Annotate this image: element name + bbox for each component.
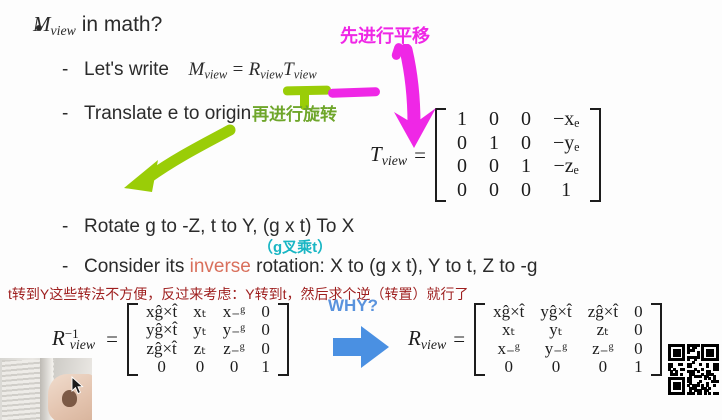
matrix-cell: xĝ×t̂ — [138, 303, 185, 321]
matrix-cell: 1 — [253, 358, 278, 376]
matrix-cell: −yₑ — [542, 132, 590, 156]
title-symbol: M — [33, 12, 51, 36]
matrix-cell: 0 — [478, 155, 510, 179]
matrix-cell: x₋ᵍ — [485, 340, 532, 358]
bullet-dash-4: - — [62, 256, 68, 278]
matrix-row: 0 0 0 1 — [446, 179, 590, 203]
qr-code — [668, 344, 718, 394]
matrix-cell: −zₑ — [542, 155, 590, 179]
matrix-row: 0 0 1 −zₑ — [446, 155, 590, 179]
formula-t-sub: view — [294, 68, 317, 82]
matrix-cell: yₜ — [532, 321, 579, 339]
slide-canvas: Mview in math? - Let's write Mview = Rvi… — [0, 0, 722, 420]
matrix-rview-inverse-letter: R — [52, 326, 65, 350]
matrix-rview-inverse-label: R−1view — [52, 326, 95, 353]
matrix-cell: yĝ×t̂ — [532, 303, 579, 321]
title-symbol-subscript: view — [51, 23, 76, 38]
magenta-arrow-icon — [386, 44, 456, 156]
matrix-cell: 0 — [446, 155, 478, 179]
matrix-cell: yₜ — [185, 321, 215, 339]
matrix-rview: Rview = xĝ×t̂ yĝ×t̂ zĝ×t̂ 0 xₜ yₜ zₜ 0 x… — [408, 303, 662, 376]
matrix-rview-inverse-subscript: view — [70, 337, 95, 352]
annotation-green-text: 再进行旋转 — [252, 100, 337, 125]
matrix-cell: zĝ×t̂ — [138, 340, 185, 358]
bullet-letswrite-label: Let's write — [84, 59, 169, 80]
matrix-cell: 0 — [446, 179, 478, 203]
matrix-cell: 0 — [510, 179, 542, 203]
formula-r: R — [249, 59, 261, 80]
matrix-rview-inverse-left-bracket — [127, 303, 138, 376]
bullet-dash-1: - — [62, 59, 68, 81]
matrix-cell: 0 — [510, 132, 542, 156]
matrix-rview-inverse-grid: xĝ×t̂ xₜ x₋ᵍ 0 yĝ×t̂ yₜ y₋ᵍ 0 zĝ×t̂ zₜ z… — [138, 303, 278, 376]
matrix-cell: −xₑ — [542, 108, 590, 132]
blue-right-arrow-icon — [331, 323, 393, 371]
matrix-row: 0 0 0 1 — [485, 358, 650, 376]
matrix-cell: 0 — [485, 358, 532, 376]
bullet-consider-prefix: Consider its — [84, 256, 190, 277]
bullet-letswrite: Let's write Mview = RviewTview — [84, 59, 317, 83]
matrix-cell: 0 — [532, 358, 579, 376]
annotation-magenta-text: 先进行平移 — [340, 22, 430, 48]
mouse-cursor-icon — [71, 376, 84, 395]
matrix-row: 0 0 0 1 — [138, 358, 278, 376]
matrix-cell: xₜ — [485, 321, 532, 339]
matrix-rview-inverse-equals: = — [106, 327, 118, 352]
matrix-rview-letter: R — [408, 326, 421, 350]
bullet-dash-2: - — [62, 103, 68, 125]
formula-m: M — [189, 59, 205, 80]
matrix-row: xₜ yₜ zₜ 0 — [485, 321, 650, 339]
bullet-rotate: Rotate g to -Z, t to Y, (g x t) To X — [84, 216, 354, 238]
matrix-row: xĝ×t̂ yĝ×t̂ zĝ×t̂ 0 — [485, 303, 650, 321]
matrix-rview-inverse-right-bracket — [278, 303, 289, 376]
bullet-consider-suffix: rotation: X to (g x t), Y to t, Z to -g — [251, 256, 538, 277]
formula-r-sub: view — [260, 68, 283, 82]
matrix-tview-right-bracket — [590, 108, 601, 202]
formula-m-sub: view — [204, 68, 227, 82]
matrix-cell: 0 — [253, 340, 278, 358]
matrix-cell: zₜ — [185, 340, 215, 358]
matrix-cell: xₜ — [185, 303, 215, 321]
matrix-cell: 0 — [626, 340, 651, 358]
matrix-rview-equals: = — [453, 327, 465, 352]
matrix-cell: zĝ×t̂ — [580, 303, 626, 321]
annotation-cyan-text: （g叉乘t） — [258, 236, 332, 257]
matrix-cell: 0 — [253, 303, 278, 321]
inverse-keyword: inverse — [190, 256, 251, 277]
matrix-cell: z₋ᵍ — [580, 340, 626, 358]
matrix-cell: 0 — [215, 358, 254, 376]
matrix-rview-label: Rview — [408, 326, 446, 353]
bullet-consider: Consider its inverse rotation: X to (g x… — [84, 256, 537, 278]
formula-equals: = — [233, 59, 244, 80]
matrix-cell: 0 — [626, 303, 651, 321]
matrix-row: zĝ×t̂ zₜ z₋ᵍ 0 — [138, 340, 278, 358]
formula-t: T — [283, 59, 294, 80]
matrix-cell: 0 — [478, 108, 510, 132]
matrix-rview-subscript: view — [421, 337, 446, 352]
matrix-cell: yĝ×t̂ — [138, 321, 185, 339]
matrix-cell: xĝ×t̂ — [485, 303, 532, 321]
matrix-cell: 1 — [510, 155, 542, 179]
annotation-red-text: t转到Y这些转法不方便，反过来考虑：Y转到t，然后求个逆（转置）就行了 — [8, 284, 468, 304]
title-text: in math? — [76, 13, 162, 36]
matrix-cell: 1 — [626, 358, 651, 376]
magenta-underline-stroke — [328, 87, 380, 98]
matrix-cell: y₋ᵍ — [215, 321, 254, 339]
green-arrow-icon — [118, 122, 243, 200]
matrix-cell: x₋ᵍ — [215, 303, 254, 321]
matrix-cell: y₋ᵍ — [532, 340, 579, 358]
matrix-row: 0 1 0 −yₑ — [446, 132, 590, 156]
matrix-rview-grid: xĝ×t̂ yĝ×t̂ zĝ×t̂ 0 xₜ yₜ zₜ 0 x₋ᵍ y₋ᵍ z… — [485, 303, 650, 376]
matrix-cell: 0 — [510, 108, 542, 132]
matrix-cell: 1 — [478, 132, 510, 156]
matrix-row: yĝ×t̂ yₜ y₋ᵍ 0 — [138, 321, 278, 339]
matrix-cell: zₜ — [580, 321, 626, 339]
matrix-row: x₋ᵍ y₋ᵍ z₋ᵍ 0 — [485, 340, 650, 358]
matrix-row: 1 0 0 −xₑ — [446, 108, 590, 132]
matrix-cell: 0 — [185, 358, 215, 376]
matrix-row: xĝ×t̂ xₜ x₋ᵍ 0 — [138, 303, 278, 321]
matrix-tview-grid: 1 0 0 −xₑ 0 1 0 −yₑ 0 0 1 −zₑ 0 0 0 1 — [446, 108, 590, 202]
matrix-rview-left-bracket — [474, 303, 485, 376]
bullet-dash-3: - — [62, 216, 68, 238]
matrix-cell: 1 — [542, 179, 590, 203]
matrix-cell: 0 — [626, 321, 651, 339]
matrix-cell: 0 — [580, 358, 626, 376]
matrix-cell: 0 — [253, 321, 278, 339]
matrix-cell: 0 — [138, 358, 185, 376]
page-title: Mview in math? — [33, 12, 162, 39]
matrix-rview-right-bracket — [651, 303, 662, 376]
matrix-tview-letter: T — [370, 142, 382, 166]
matrix-cell: 0 — [478, 179, 510, 203]
matrix-cell: z₋ᵍ — [215, 340, 254, 358]
annotation-why-label: WHY? — [328, 296, 378, 316]
